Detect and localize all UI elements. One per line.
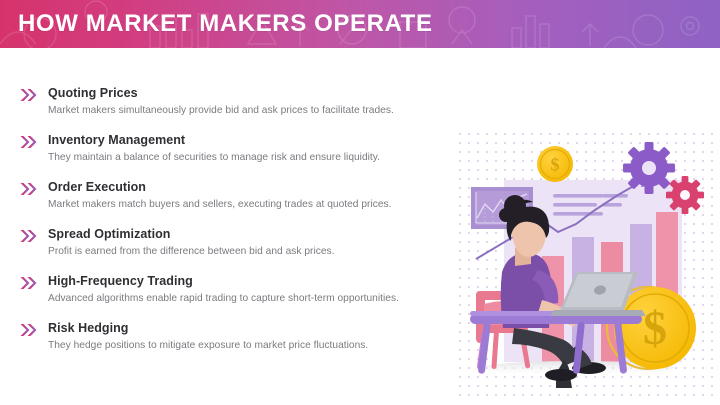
chevron-right-icon [19, 135, 37, 149]
list-item-title: High-Frequency Trading [48, 274, 468, 289]
slide-header: HOW MARKET MAKERS OPERATE [0, 0, 720, 48]
svg-text:$: $ [643, 302, 667, 355]
chevron-right-icon [19, 182, 37, 196]
list-item-title: Inventory Management [48, 133, 468, 148]
list-item[interactable]: Inventory Management They maintain a bal… [18, 133, 468, 165]
list-item-description: Profit is earned from the difference bet… [48, 244, 468, 259]
chevron-right-icon [19, 229, 37, 243]
svg-text:$: $ [551, 155, 560, 175]
list-item-title: Spread Optimization [48, 227, 468, 242]
pink-gear-icon [666, 176, 704, 214]
list-item[interactable]: Spread Optimization Profit is earned fro… [18, 227, 468, 259]
page-title: HOW MARKET MAKERS OPERATE [18, 8, 433, 40]
list-item[interactable]: Risk Hedging They hedge positions to mit… [18, 321, 468, 353]
list-item-title: Quoting Prices [48, 86, 468, 101]
market-maker-workstation-illustration: $ $ [458, 132, 716, 400]
purple-gear-icon [623, 142, 675, 194]
list-item-description: They maintain a balance of securities to… [48, 150, 468, 165]
list-item-description: Advanced algorithms enable rapid trading… [48, 291, 468, 306]
list-item-title: Order Execution [48, 180, 468, 195]
list-item[interactable]: Order Execution Market makers match buye… [18, 180, 468, 212]
feature-list: Quoting Prices Market makers simultaneou… [18, 86, 468, 353]
list-item-description: Market makers match buyers and sellers, … [48, 197, 468, 212]
list-item-description: They hedge positions to mitigate exposur… [48, 338, 468, 353]
list-item-description: Market makers simultaneously provide bid… [48, 103, 468, 118]
list-item-title: Risk Hedging [48, 321, 468, 336]
chevron-right-icon [19, 88, 37, 102]
small-dollar-coin-icon: $ [537, 146, 573, 182]
slide-root: HOW MARKET MAKERS OPERATE Quoting Prices… [0, 0, 720, 405]
list-item[interactable]: Quoting Prices Market makers simultaneou… [18, 86, 468, 118]
chevron-right-icon [19, 276, 37, 290]
chevron-right-icon [19, 323, 37, 337]
list-item[interactable]: High-Frequency Trading Advanced algorith… [18, 274, 468, 306]
